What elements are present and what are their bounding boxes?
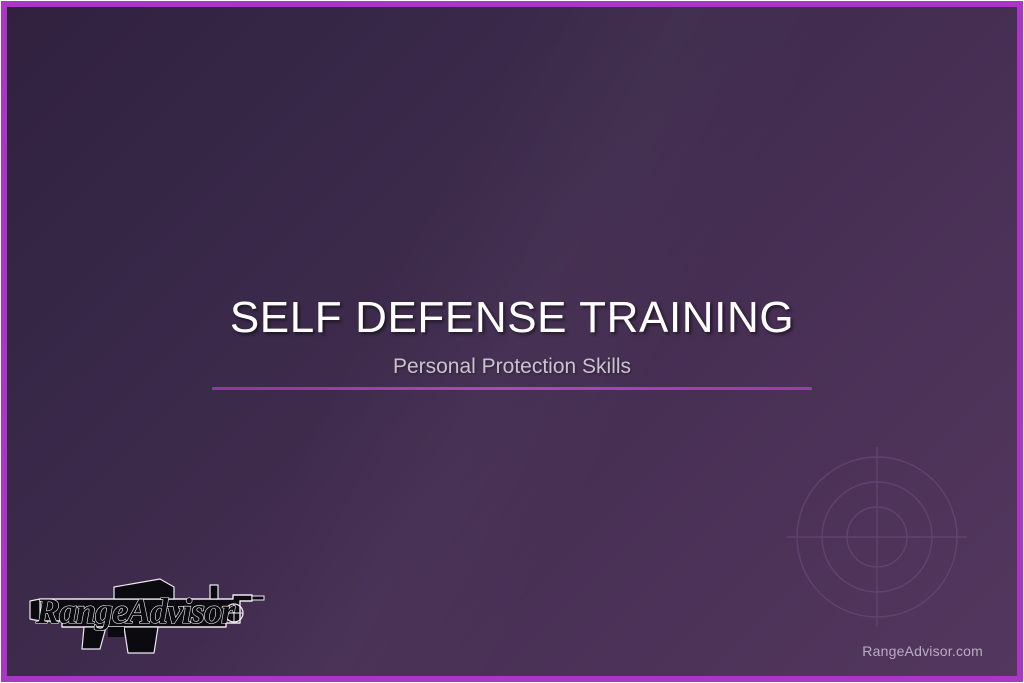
page-subtitle: Personal Protection Skills [7, 355, 1017, 378]
title-block: SELF DEFENSE TRAINING Personal Protectio… [7, 295, 1017, 378]
footer-url: RangeAdvisor.com [862, 643, 983, 659]
crosshair-target-icon [780, 440, 974, 634]
slide-canvas: SELF DEFENSE TRAINING Personal Protectio… [7, 7, 1017, 676]
page-title: SELF DEFENSE TRAINING [7, 295, 1017, 341]
logo-wordmark: RangeAdvisor [35, 591, 236, 631]
title-divider [212, 387, 812, 390]
brand-logo: RangeAdvisor [28, 565, 266, 655]
presentation-slide: SELF DEFENSE TRAINING Personal Protectio… [0, 0, 1024, 683]
